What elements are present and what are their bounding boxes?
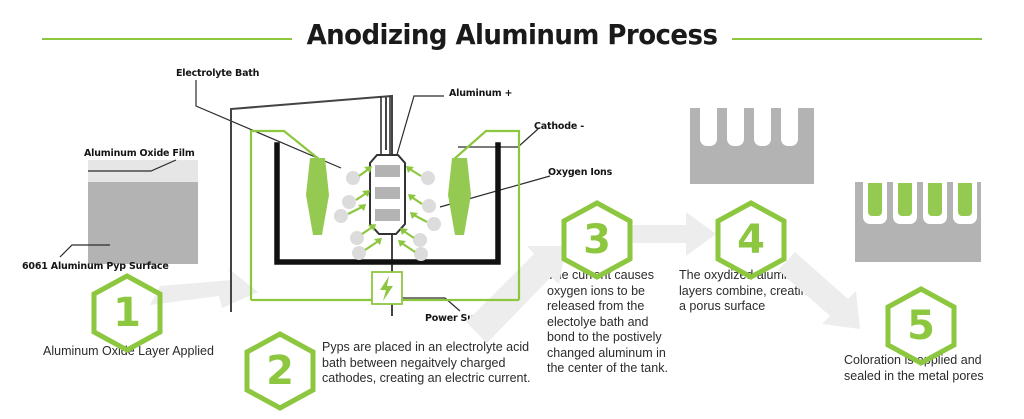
arrow-step3-to-step4 (628, 212, 716, 256)
ion-arrowhead (406, 166, 414, 173)
step-marker-3-number: 3 (560, 199, 634, 281)
slab-step1-oxide-layer (88, 160, 198, 182)
ion-arrowhead (374, 238, 382, 245)
step-marker-5-number: 5 (884, 285, 958, 367)
ion-arrowhead (358, 204, 366, 211)
label-aluminum-plus: Aluminum + (449, 88, 512, 99)
pore-notch (781, 107, 798, 146)
ion-dot (352, 246, 366, 260)
workpiece-outline (370, 155, 405, 234)
step-2-description: Pyps are placed in an electrolyte acid b… (322, 340, 532, 387)
tank-vessel-walls (277, 145, 498, 262)
pore-cell (863, 180, 887, 224)
arrow-step1-to-step2 (150, 268, 258, 308)
workpiece-bar (375, 187, 400, 199)
ion-dot (413, 233, 427, 247)
workpiece-holder (370, 96, 405, 234)
ion-dot (350, 231, 364, 245)
pore-color-fill (958, 183, 972, 216)
oxygen-ion-dots (334, 171, 441, 261)
ion-arrowhead (400, 228, 408, 235)
pore-cell (923, 180, 947, 224)
ion-arrow (359, 168, 370, 176)
tank-frame-outline (231, 96, 392, 316)
ion-dot (414, 247, 428, 261)
ion-arrow (365, 240, 380, 250)
step-marker-1[interactable]: 1 (90, 272, 164, 354)
workpiece-bar (375, 209, 400, 221)
ion-arrowhead (368, 224, 376, 231)
tank-frame (231, 96, 392, 316)
label-aluminum-oxide-film: Aluminum Oxide Film (84, 148, 195, 159)
ion-arrow (408, 168, 421, 176)
pore-cell (953, 180, 977, 224)
ion-dot (342, 195, 356, 209)
slab-step5 (855, 182, 981, 262)
ion-arrowheads (358, 166, 418, 247)
ion-dot (427, 217, 441, 231)
leader-power-supply (399, 298, 460, 311)
ion-arrow (348, 206, 364, 214)
ion-arrows (348, 168, 427, 252)
label-cathode-minus: Cathode - (534, 121, 584, 132)
step-marker-2[interactable]: 2 (243, 330, 317, 412)
step-marker-5[interactable]: 5 (884, 285, 958, 367)
step-3-description: The current causes oxygen ions to be rel… (547, 268, 679, 377)
ion-arrowhead (398, 240, 406, 247)
circuit-wire-left (251, 131, 320, 300)
label-electrolyte-bath: Electrolyte Bath (176, 68, 259, 79)
pore-notch (727, 107, 744, 146)
pore-cell (893, 180, 917, 224)
ion-arrowhead (362, 190, 370, 197)
power-supply-box (372, 272, 402, 304)
leader-aluminum-plus (396, 96, 444, 158)
ion-arrow (412, 214, 427, 222)
lightning-bolt-icon (380, 276, 393, 301)
workpiece-hanger (381, 96, 390, 155)
electrode-left (306, 158, 329, 235)
ion-dot (422, 199, 436, 213)
slab-step4 (690, 108, 814, 184)
slab-step1 (88, 160, 198, 264)
power-supply-frame (372, 272, 402, 304)
step-marker-4[interactable]: 4 (714, 199, 788, 281)
ion-arrow (362, 226, 374, 234)
label-oxygen-ions: Oxygen Ions (548, 167, 612, 178)
label-power-supply: Power Supply (425, 313, 496, 324)
leader-oxygen-ions (440, 176, 550, 207)
tank-vessel (277, 145, 498, 262)
leader-electrolyte-bath (196, 80, 341, 168)
step-marker-4-number: 4 (714, 199, 788, 281)
electrode-right (448, 158, 471, 235)
pore-notch (700, 107, 717, 146)
label-6061-aluminum-surface: 6061 Aluminum Pyp Surface (22, 261, 169, 272)
circuit-loop (251, 131, 519, 300)
ion-dot (334, 209, 348, 223)
pore-notch (754, 107, 771, 146)
ion-dot (421, 171, 435, 185)
slab-step1-base-layer (88, 182, 198, 264)
page-title: Anodizing Aluminum Process (36, 18, 988, 51)
ion-arrowhead (408, 194, 416, 201)
ion-arrowhead (364, 166, 372, 173)
pore-color-fill (868, 183, 882, 216)
circuit-wire-right (453, 131, 519, 300)
ion-dot (346, 171, 360, 185)
step-marker-3[interactable]: 3 (560, 199, 634, 281)
step-marker-1-number: 1 (90, 272, 164, 354)
ion-arrow (356, 192, 368, 200)
infographic-canvas: Anodizing Aluminum Process Aluminum Oxid… (0, 0, 1024, 419)
electrodes (306, 158, 471, 235)
step-marker-2-number: 2 (243, 330, 317, 412)
ion-arrow (400, 242, 415, 252)
ion-arrowhead (410, 212, 418, 219)
pore-color-fill (898, 183, 912, 216)
ion-arrow (402, 230, 414, 238)
pore-color-fill (928, 183, 942, 216)
ion-arrow (410, 196, 422, 204)
leader-cathode (458, 129, 538, 147)
workpiece-bar (375, 165, 400, 177)
